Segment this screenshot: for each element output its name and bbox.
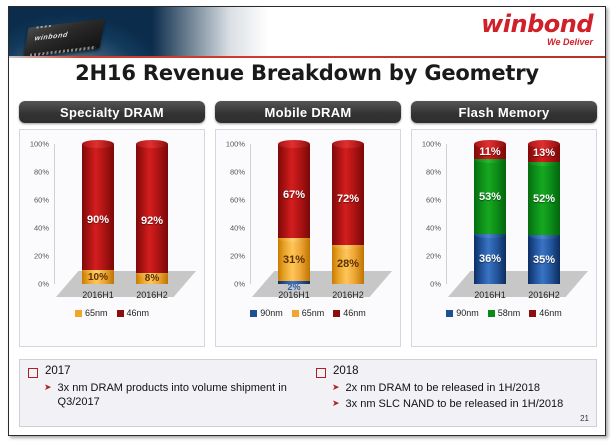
- legend-label: 90nm: [456, 308, 479, 318]
- legend-label: 58nm: [498, 308, 521, 318]
- y-tick-label: 0%: [234, 280, 245, 289]
- legend-swatch-icon: [250, 310, 257, 317]
- y-tick-label: 40%: [34, 224, 49, 233]
- panel-specialty-dram: Specialty DRAM 100% 80% 60% 40% 20% 0%: [19, 101, 205, 351]
- notes-column-2017: 2017 ➤ 3x nm DRAM products into volume s…: [20, 360, 308, 426]
- segment-46nm: 11%: [474, 144, 506, 159]
- legend-swatch-icon: [117, 310, 124, 317]
- segment-value-label: 28%: [337, 258, 359, 270]
- header-divider: [9, 56, 605, 58]
- stacked-bar-2016h2[interactable]: 28% 72%: [332, 144, 364, 284]
- legend-label: 46nm: [343, 308, 366, 318]
- legend-item-90nm: 90nm: [446, 308, 479, 318]
- y-tick-label: 20%: [230, 252, 245, 261]
- page-title: 2H16 Revenue Breakdown by Geometry: [9, 61, 605, 85]
- legend-item-46nm: 46nm: [333, 308, 366, 318]
- segment-value-label: 90%: [87, 214, 109, 226]
- segment-value-label: 11%: [479, 146, 500, 158]
- page-number: 21: [580, 414, 589, 423]
- legend-swatch-icon: [292, 310, 299, 317]
- slide: winbond winbond We Deliver 2H16 Revenue …: [8, 6, 606, 436]
- legend-item-58nm: 58nm: [488, 308, 521, 318]
- legend-label: 65nm: [302, 308, 325, 318]
- panel-mobile-dram: Mobile DRAM 100% 80% 60% 40% 20% 0%: [215, 101, 401, 351]
- plot-area-mobile-dram: 100% 80% 60% 40% 20% 0% 2%: [250, 144, 392, 284]
- bar-top-cap: [332, 140, 364, 148]
- x-axis-labels: 2016H1 2016H2: [446, 290, 588, 304]
- chip-logo-label: winbond: [34, 32, 68, 43]
- y-tick-label: 60%: [34, 196, 49, 205]
- plot-area-specialty-dram: 100% 80% 60% 40% 20% 0% 10%: [54, 144, 196, 284]
- legend-swatch-icon: [446, 310, 453, 317]
- bar-top-cap: [136, 140, 168, 148]
- legend-swatch-icon: [333, 310, 340, 317]
- panel-title-specialty-dram: Specialty DRAM: [19, 101, 205, 123]
- notes-year-label: 2018: [333, 365, 359, 377]
- stacked-bar-2016h1[interactable]: 2% 31% 67%: [278, 144, 310, 284]
- segment-value-label: 53%: [479, 191, 501, 203]
- notes-column-2018: 2018 ➤ 2x nm DRAM to be released in 1H/2…: [308, 360, 596, 426]
- segment-90nm: 2%: [278, 281, 310, 284]
- panel-body-flash-memory: 100% 80% 60% 40% 20% 0% 36%: [411, 129, 597, 347]
- panel-title-mobile-dram: Mobile DRAM: [215, 101, 401, 123]
- legend-label: 65nm: [85, 308, 108, 318]
- segment-value-label: 92%: [141, 215, 163, 227]
- panel-body-mobile-dram: 100% 80% 60% 40% 20% 0% 2%: [215, 129, 401, 347]
- segment-value-label: 8%: [145, 273, 159, 284]
- arrow-bullet-icon: ➤: [332, 381, 340, 394]
- y-tick-label: 0%: [430, 280, 441, 289]
- chart-flash-memory: 100% 80% 60% 40% 20% 0% 36%: [412, 130, 596, 346]
- segment-46nm: 72%: [332, 144, 364, 245]
- note-item: ➤ 3x nm DRAM products into volume shipme…: [44, 381, 300, 409]
- panel-body-specialty-dram: 100% 80% 60% 40% 20% 0% 10%: [19, 129, 205, 347]
- legend-item-46nm: 46nm: [529, 308, 562, 318]
- y-tick-label: 100%: [422, 140, 441, 149]
- segment-value-label: 72%: [337, 193, 359, 205]
- y-tick-label: 0%: [38, 280, 49, 289]
- bars-group: 10% 90% 8%: [54, 144, 196, 284]
- y-tick-label: 80%: [230, 168, 245, 177]
- x-tick-label: 2016H2: [323, 290, 373, 300]
- segment-value-label: 36%: [479, 253, 501, 265]
- slide-header: winbond winbond We Deliver: [9, 7, 605, 57]
- legend-label: 90nm: [260, 308, 283, 318]
- segment-46nm: 67%: [278, 144, 310, 238]
- note-item: ➤ 3x nm SLC NAND to be released in 1H/20…: [332, 397, 588, 411]
- segment-65nm: 28%: [332, 245, 364, 284]
- y-tick-label: 60%: [426, 196, 441, 205]
- y-tick-label: 100%: [226, 140, 245, 149]
- legend-item-65nm: 65nm: [75, 308, 108, 318]
- x-tick-label: 2016H1: [465, 290, 515, 300]
- y-tick-label: 80%: [426, 168, 441, 177]
- note-item-text: 2x nm DRAM to be released in 1H/2018: [346, 381, 540, 395]
- segment-58nm: 52%: [528, 162, 560, 235]
- segment-58nm: 53%: [474, 159, 506, 233]
- legend-swatch-icon: [75, 310, 82, 317]
- segment-46nm: 13%: [528, 144, 560, 162]
- x-tick-label: 2016H1: [73, 290, 123, 300]
- plot-area-flash-memory: 100% 80% 60% 40% 20% 0% 36%: [446, 144, 588, 284]
- x-tick-label: 2016H2: [519, 290, 569, 300]
- legend-item-65nm: 65nm: [292, 308, 325, 318]
- bullet-square-icon: [28, 368, 38, 378]
- bars-group: 2% 31% 67%: [250, 144, 392, 284]
- bar-top-cap: [82, 140, 114, 148]
- y-tick-label: 20%: [34, 252, 49, 261]
- panel-flash-memory: Flash Memory 100% 80% 60% 40% 20% 0%: [411, 101, 597, 351]
- charts-row: Specialty DRAM 100% 80% 60% 40% 20% 0%: [19, 101, 597, 351]
- stacked-bar-2016h1[interactable]: 10% 90%: [82, 144, 114, 284]
- segment-value-label: 52%: [533, 193, 555, 205]
- y-tick-label: 80%: [34, 168, 49, 177]
- segment-value-label: 10%: [88, 272, 108, 283]
- y-tick-label: 100%: [30, 140, 49, 149]
- bar-top-cap: [278, 140, 310, 148]
- arrow-bullet-icon: ➤: [44, 381, 52, 394]
- note-item-text: 3x nm SLC NAND to be released in 1H/2018: [346, 397, 564, 411]
- chart-legend: 90nm 65nm 46nm: [216, 308, 400, 318]
- chart-legend: 90nm 58nm 46nm: [412, 308, 596, 318]
- notes-year-label: 2017: [45, 365, 71, 377]
- x-axis-labels: 2016H1 2016H2: [250, 290, 392, 304]
- y-tick-label: 60%: [230, 196, 245, 205]
- note-item-text: 3x nm DRAM products into volume shipment…: [58, 381, 300, 409]
- arrow-bullet-icon: ➤: [332, 397, 340, 410]
- segment-46nm: 92%: [136, 144, 168, 273]
- segment-90nm: 35%: [528, 235, 560, 284]
- x-axis-labels: 2016H1 2016H2: [54, 290, 196, 304]
- winbond-logo-text: winbond: [481, 12, 593, 36]
- stacked-bar-2016h2[interactable]: 35% 52% 13%: [528, 144, 560, 284]
- winbond-logo: winbond We Deliver: [481, 12, 593, 47]
- bullet-square-icon: [316, 368, 326, 378]
- bars-group: 36% 53% 11%: [446, 144, 588, 284]
- segment-value-label: 2%: [287, 282, 300, 292]
- segment-90nm: 36%: [474, 234, 506, 284]
- notes-section: 2017 ➤ 3x nm DRAM products into volume s…: [19, 359, 597, 427]
- legend-label: 46nm: [539, 308, 562, 318]
- chart-legend: 65nm 46nm: [20, 308, 204, 318]
- segment-value-label: 67%: [283, 189, 305, 201]
- legend-swatch-icon: [529, 310, 536, 317]
- legend-item-90nm: 90nm: [250, 308, 283, 318]
- winbond-tagline: We Deliver: [481, 38, 593, 47]
- y-tick-label: 40%: [230, 224, 245, 233]
- segment-65nm: 31%: [278, 238, 310, 281]
- x-tick-label: 2016H2: [127, 290, 177, 300]
- segment-65nm: 10%: [82, 270, 114, 284]
- segment-value-label: 35%: [533, 254, 555, 266]
- legend-swatch-icon: [488, 310, 495, 317]
- chart-specialty-dram: 100% 80% 60% 40% 20% 0% 10%: [20, 130, 204, 346]
- segment-46nm: 90%: [82, 144, 114, 270]
- y-tick-label: 40%: [426, 224, 441, 233]
- segment-65nm: 8%: [136, 273, 168, 284]
- legend-item-46nm: 46nm: [117, 308, 150, 318]
- stacked-bar-2016h1[interactable]: 36% 53% 11%: [474, 144, 506, 284]
- note-item: ➤ 2x nm DRAM to be released in 1H/2018: [332, 381, 588, 395]
- legend-label: 46nm: [127, 308, 150, 318]
- segment-value-label: 13%: [533, 147, 555, 159]
- panel-title-flash-memory: Flash Memory: [411, 101, 597, 123]
- notes-year-2017: 2017: [28, 365, 300, 378]
- stacked-bar-2016h2[interactable]: 8% 92%: [136, 144, 168, 284]
- chart-mobile-dram: 100% 80% 60% 40% 20% 0% 2%: [216, 130, 400, 346]
- segment-value-label: 31%: [283, 254, 305, 266]
- y-tick-label: 20%: [426, 252, 441, 261]
- notes-year-2018: 2018: [316, 365, 588, 378]
